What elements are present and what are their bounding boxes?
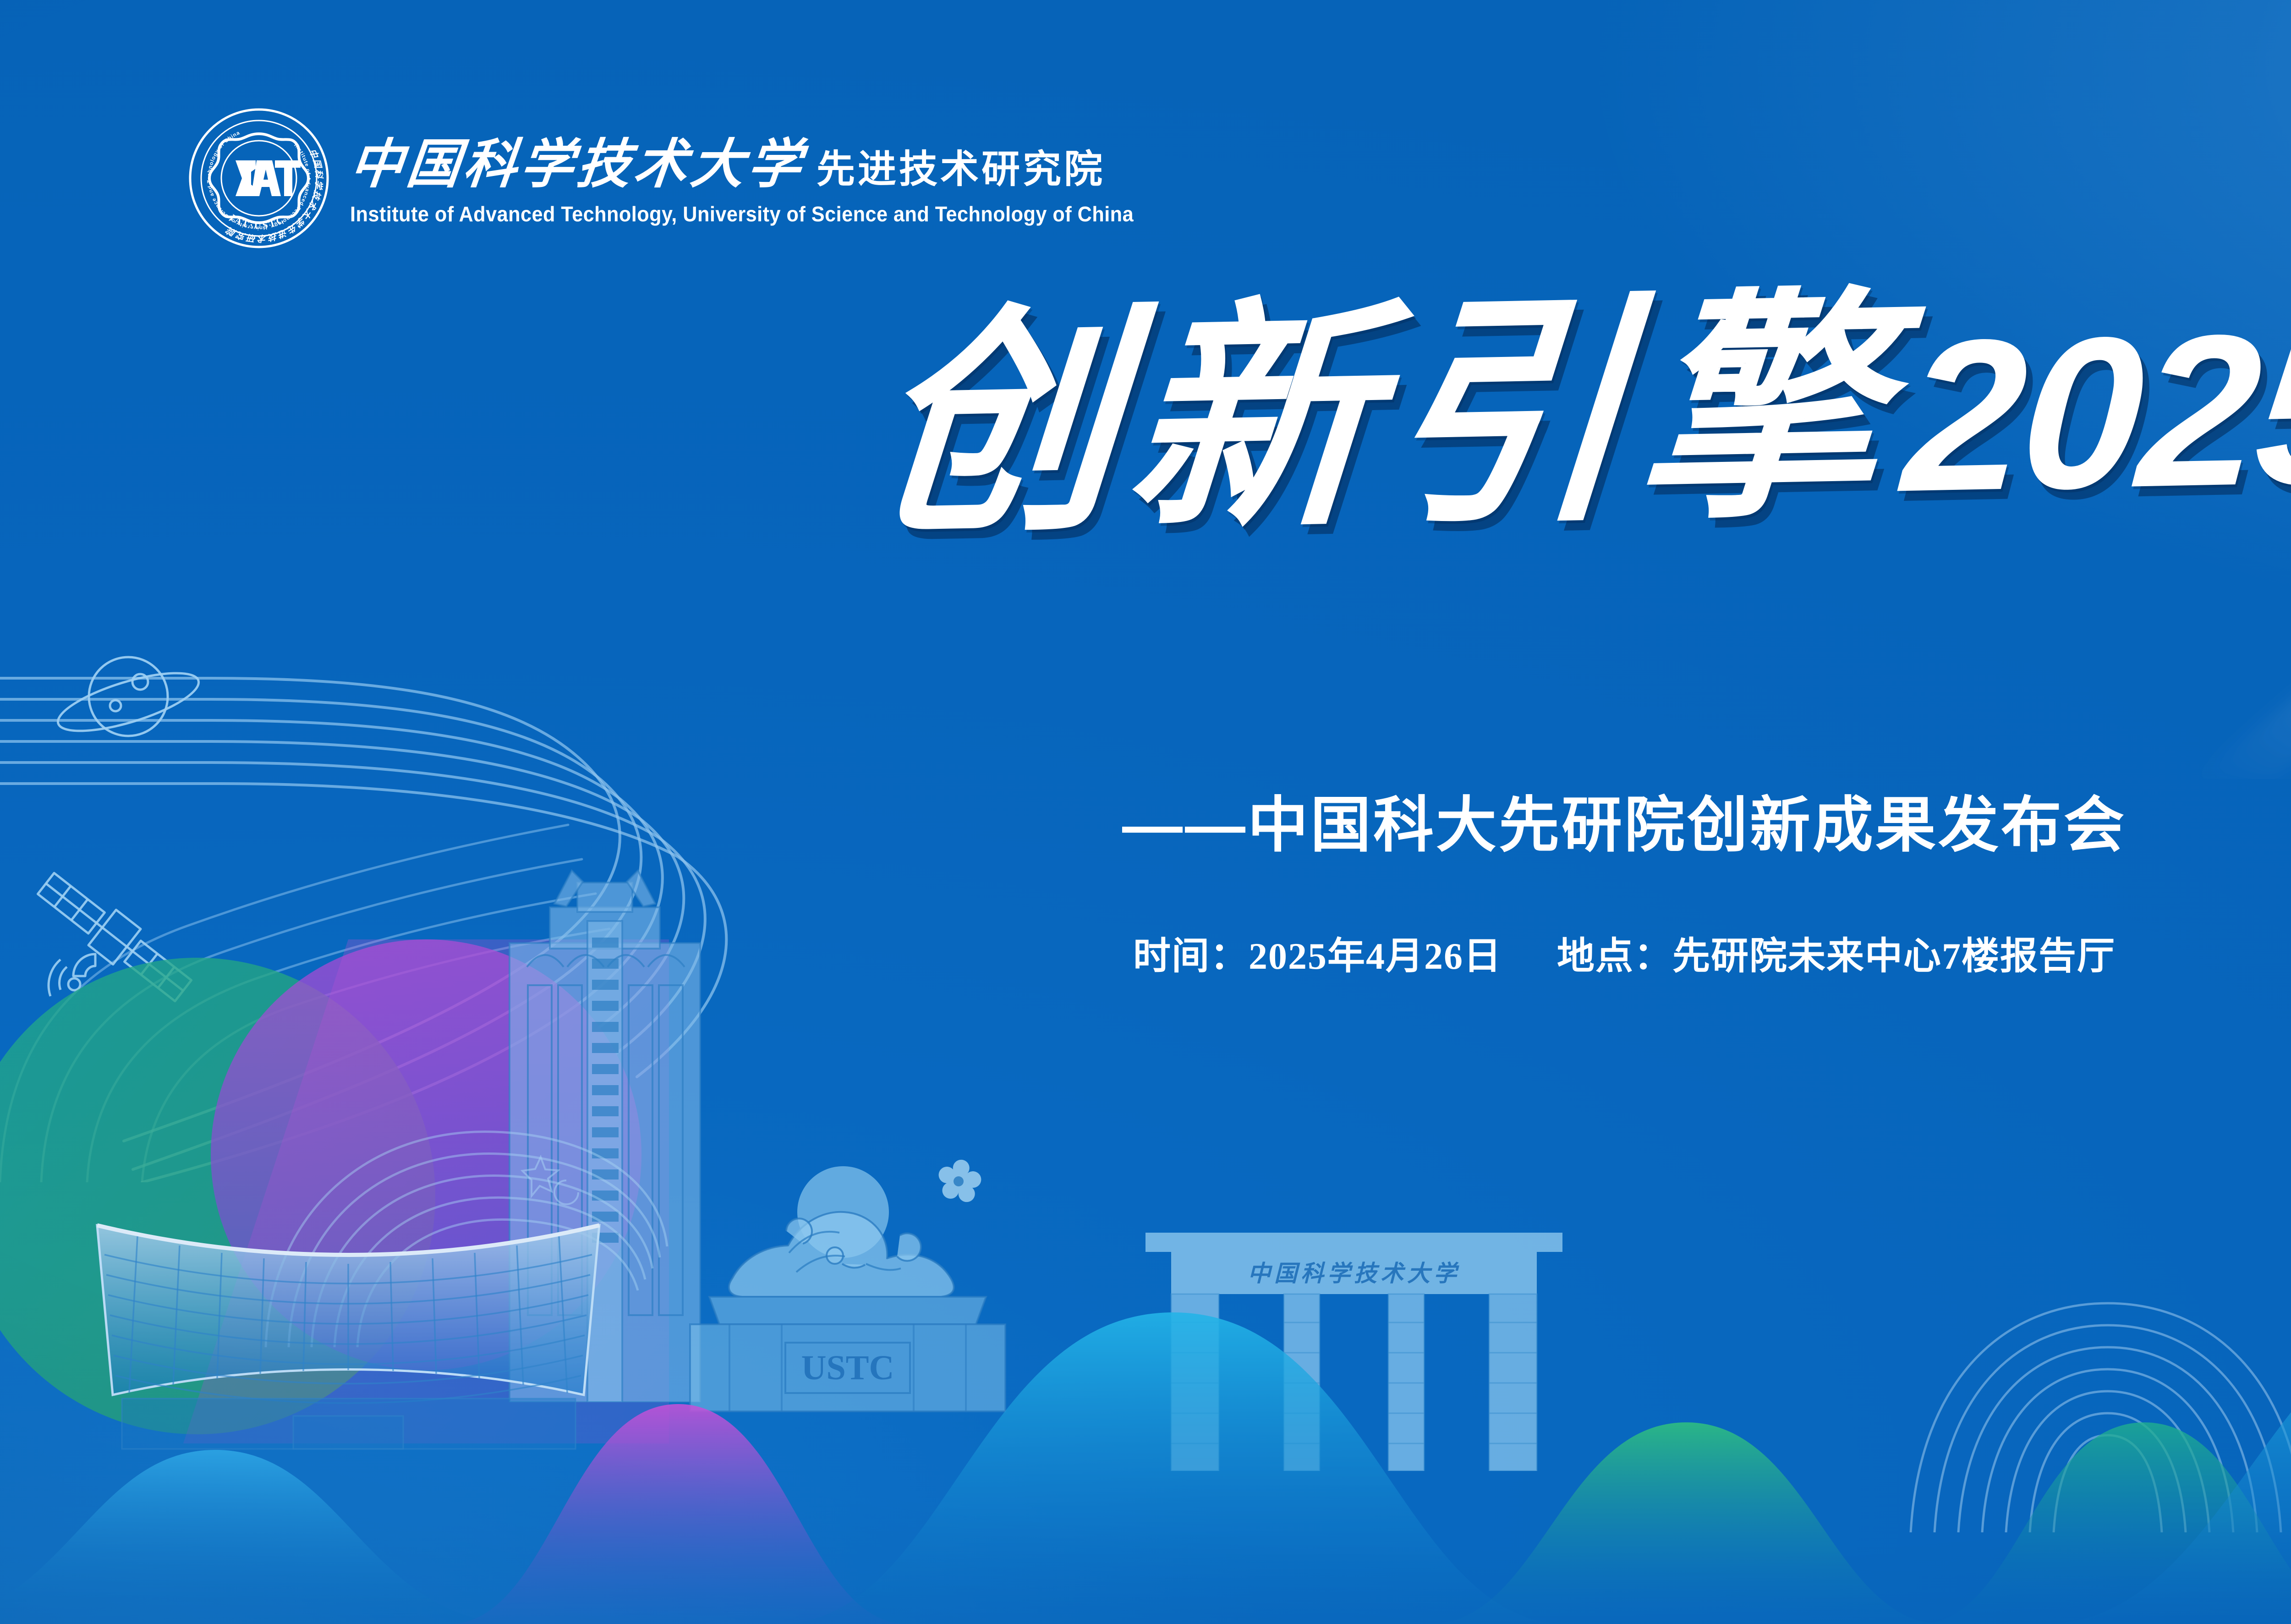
- poster-canvas: USTC 中: [0, 0, 2291, 1624]
- background-vignette: [0, 0, 2291, 1624]
